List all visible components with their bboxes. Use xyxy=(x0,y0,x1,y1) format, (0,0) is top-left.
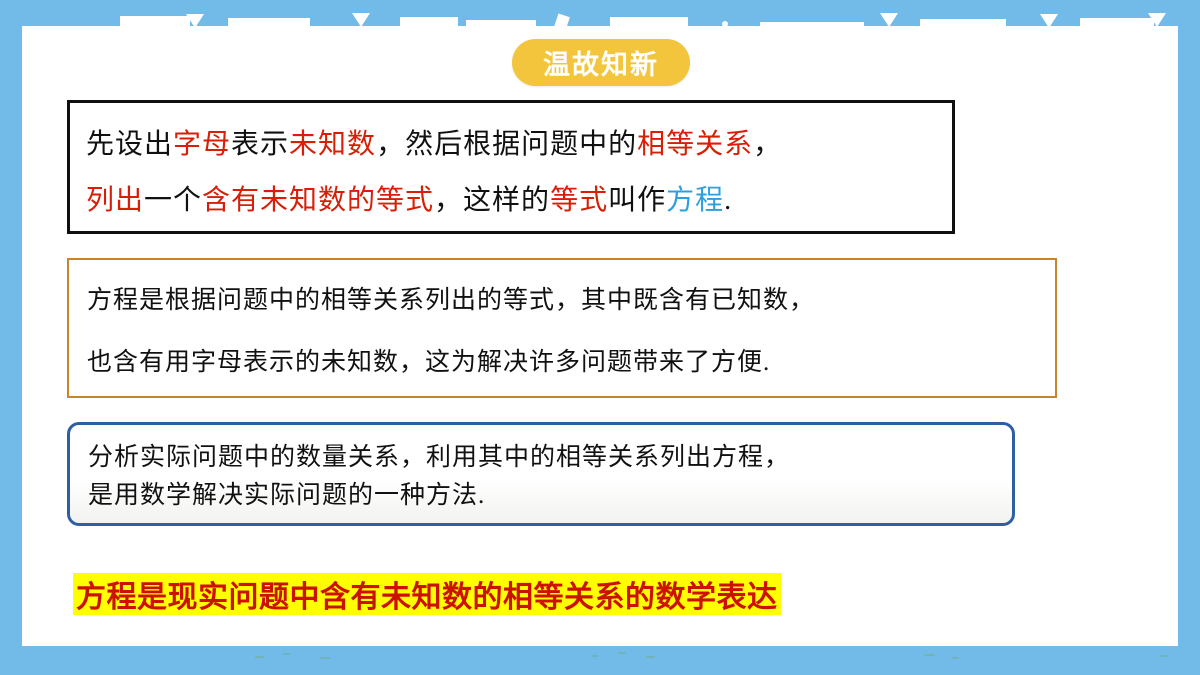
definition-l1-seg2: 字母 xyxy=(173,129,231,160)
section-title-badge: 温故知新 xyxy=(512,39,690,86)
definition-box: 先设出字母表示未知数，然后根据问题中的相等关系， 列出一个含有未知数的等式，这样… xyxy=(67,100,955,234)
method-line-1: 分析实际问题中的数量关系，利用其中的相等关系列出方程， xyxy=(88,439,1012,477)
fleck-decor xyxy=(618,652,626,654)
definition-line-1: 先设出字母表示未知数，然后根据问题中的相等关系， xyxy=(86,117,952,173)
definition-l2-seg5: 等式 xyxy=(550,185,608,216)
fleck-decor xyxy=(924,654,935,656)
explanation-box: 方程是根据问题中的相等关系列出的等式，其中既含有已知数， 也含有用字母表示的未知… xyxy=(67,258,1057,398)
fleck-decor xyxy=(283,653,290,655)
definition-l1-seg4: 未知数 xyxy=(289,129,376,160)
conclusion-highlight: 方程是现实问题中含有未知数的相等关系的数学表达 xyxy=(73,573,781,615)
conclusion-text: 方程是现实问题中含有未知数的相等关系的数学表达 xyxy=(76,572,778,616)
section-title-label: 温故知新 xyxy=(543,43,659,82)
fleck-decor xyxy=(646,656,655,658)
method-line-2: 是用数学解决实际问题的一种方法. xyxy=(88,477,1012,515)
definition-l2-seg7: 方程 xyxy=(666,185,724,216)
slide-canvas: 温故知新 先设出字母表示未知数，然后根据问题中的相等关系， 列出一个含有未知数的… xyxy=(0,0,1200,675)
definition-l1-seg3: 表示 xyxy=(231,129,289,160)
fleck-decor xyxy=(320,657,330,659)
definition-l2-seg6: 叫作 xyxy=(608,185,666,216)
fleck-decor xyxy=(592,655,598,657)
explanation-line-2: 也含有用字母表示的未知数，这为解决许多问题带来了方便. xyxy=(87,332,1055,394)
explanation-line-1: 方程是根据问题中的相等关系列出的等式，其中既含有已知数， xyxy=(87,270,1055,332)
definition-l2-seg8: . xyxy=(724,185,732,216)
brush-stroke-decor xyxy=(1148,13,1166,27)
method-box: 分析实际问题中的数量关系，利用其中的相等关系列出方程， 是用数学解决实际问题的一… xyxy=(67,422,1015,526)
definition-l2-seg1: 列出 xyxy=(86,185,144,216)
definition-l1-seg5: ，然后根据问题中的 xyxy=(376,129,637,160)
definition-l1-seg1: 先设出 xyxy=(86,129,173,160)
definition-l2-seg3: 含有未知数的等式 xyxy=(202,185,434,216)
brush-stroke-decor xyxy=(880,13,898,27)
fleck-decor xyxy=(1160,655,1169,657)
definition-l1-seg7: ， xyxy=(753,129,782,160)
brush-stroke-decor xyxy=(352,13,370,27)
definition-l2-seg4: ，这样的 xyxy=(434,185,550,216)
fleck-decor xyxy=(952,657,959,659)
definition-l1-seg6: 相等关系 xyxy=(637,129,753,160)
definition-l2-seg2: 一个 xyxy=(144,185,202,216)
definition-line-2: 列出一个含有未知数的等式，这样的等式叫作方程. xyxy=(86,173,952,229)
fleck-decor xyxy=(255,656,264,658)
